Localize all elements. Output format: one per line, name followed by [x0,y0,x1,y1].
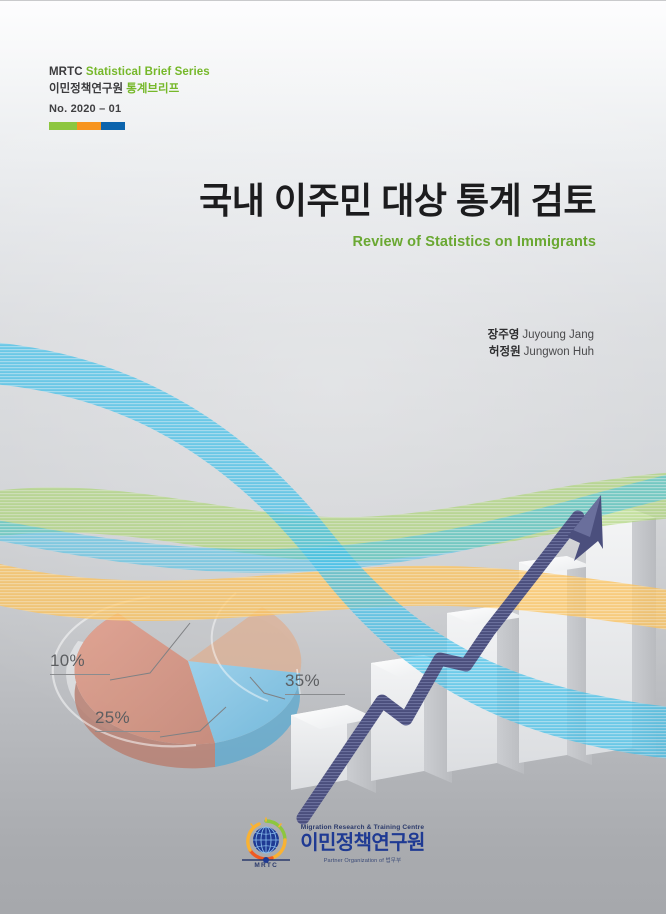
masthead: MRTC Statistical Brief Series 이민정책연구원 통계… [49,65,210,130]
author-name-english: Juyoung Jang [522,329,594,341]
pie-label-value: 35% [285,671,320,694]
series-line-korean: 이민정책연구원 통계브리프 [49,81,210,97]
pie-label-35-percent: 35% [285,671,345,695]
series-name-korean: 통계브리프 [126,83,179,95]
author-name-korean: 허정원 [489,346,521,358]
org-partner-note: Partner Organization of 법무부 [300,856,425,864]
organization-logo: MRTC Migration Research & Training Centr… [0,817,666,869]
series-name-english: Statistical Brief Series [86,66,210,78]
mrtc-globe-mark: MRTC [241,817,291,869]
page-title: 국내 이주민 대상 통계 검토 [199,179,596,223]
pie-label-value: 10% [50,651,85,674]
accent-color-bar [49,122,125,130]
page-subtitle: Review of Statistics on Immigrants [199,234,596,250]
logo-caption: MRTC [241,862,291,869]
brand-abbreviation: MRTC [49,66,83,78]
author-list: 장주영Juyoung Jang 허정원Jungwon Huh [488,327,594,361]
accent-bar-orange [77,122,101,130]
document-cover-page: MRTC Statistical Brief Series 이민정책연구원 통계… [0,0,666,914]
org-name-korean: 이민정책연구원 [300,831,425,855]
accent-bar-green [49,122,77,130]
organization-name-block: Migration Research & Training Centre 이민정… [300,822,425,864]
pie-label-leader-line [95,731,160,732]
pie-label-25-percent: 25% [95,708,160,732]
accent-bar-blue [101,122,125,130]
org-name-english: Migration Research & Training Centre [300,824,425,831]
author-entry: 장주영Juyoung Jang [488,327,594,344]
institute-name-korean: 이민정책연구원 [49,83,123,95]
title-block: 국내 이주민 대상 통계 검토 Review of Statistics on … [199,179,596,250]
author-name-english: Jungwon Huh [524,346,594,358]
pie-label-leader-line [285,694,345,695]
cover-artwork [0,1,666,914]
pie-label-leader-line [50,674,110,675]
pie-label-10-percent: 10% [50,651,110,675]
author-entry: 허정원Jungwon Huh [488,344,594,361]
series-line-english: MRTC Statistical Brief Series [49,65,210,80]
issue-number: No. 2020 – 01 [49,103,210,115]
pie-label-value: 25% [95,708,130,731]
author-name-korean: 장주영 [488,329,520,341]
